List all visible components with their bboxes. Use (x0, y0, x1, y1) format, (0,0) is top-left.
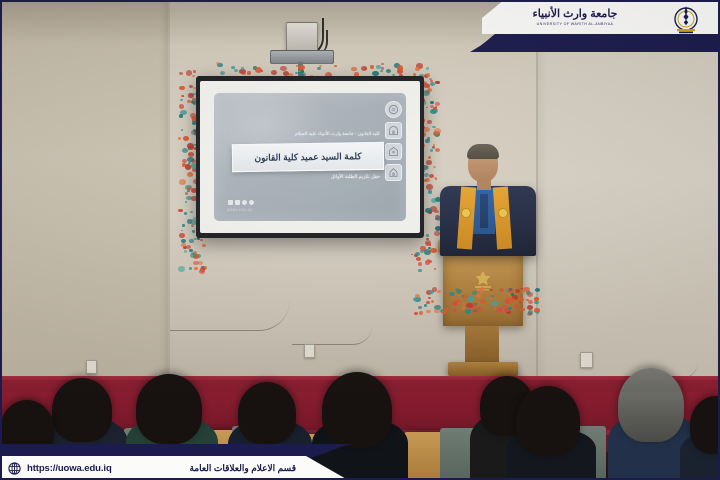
website-url-link[interactable]: https://uowa.edu.iq (27, 463, 112, 474)
department-name-label: قسم الاعلام والعلاقات العامة (189, 463, 296, 474)
footer-content: https://uowa.edu.iq قسم الاعلام والعلاقا… (0, 456, 348, 480)
audience-member-head (0, 400, 54, 458)
audience-member-head (516, 386, 580, 456)
photo-vignette (0, 0, 720, 392)
photo-canvas: كلية القانون - جامعة وارث الأنبياء عليه … (0, 0, 720, 480)
globe-icon (8, 462, 21, 475)
